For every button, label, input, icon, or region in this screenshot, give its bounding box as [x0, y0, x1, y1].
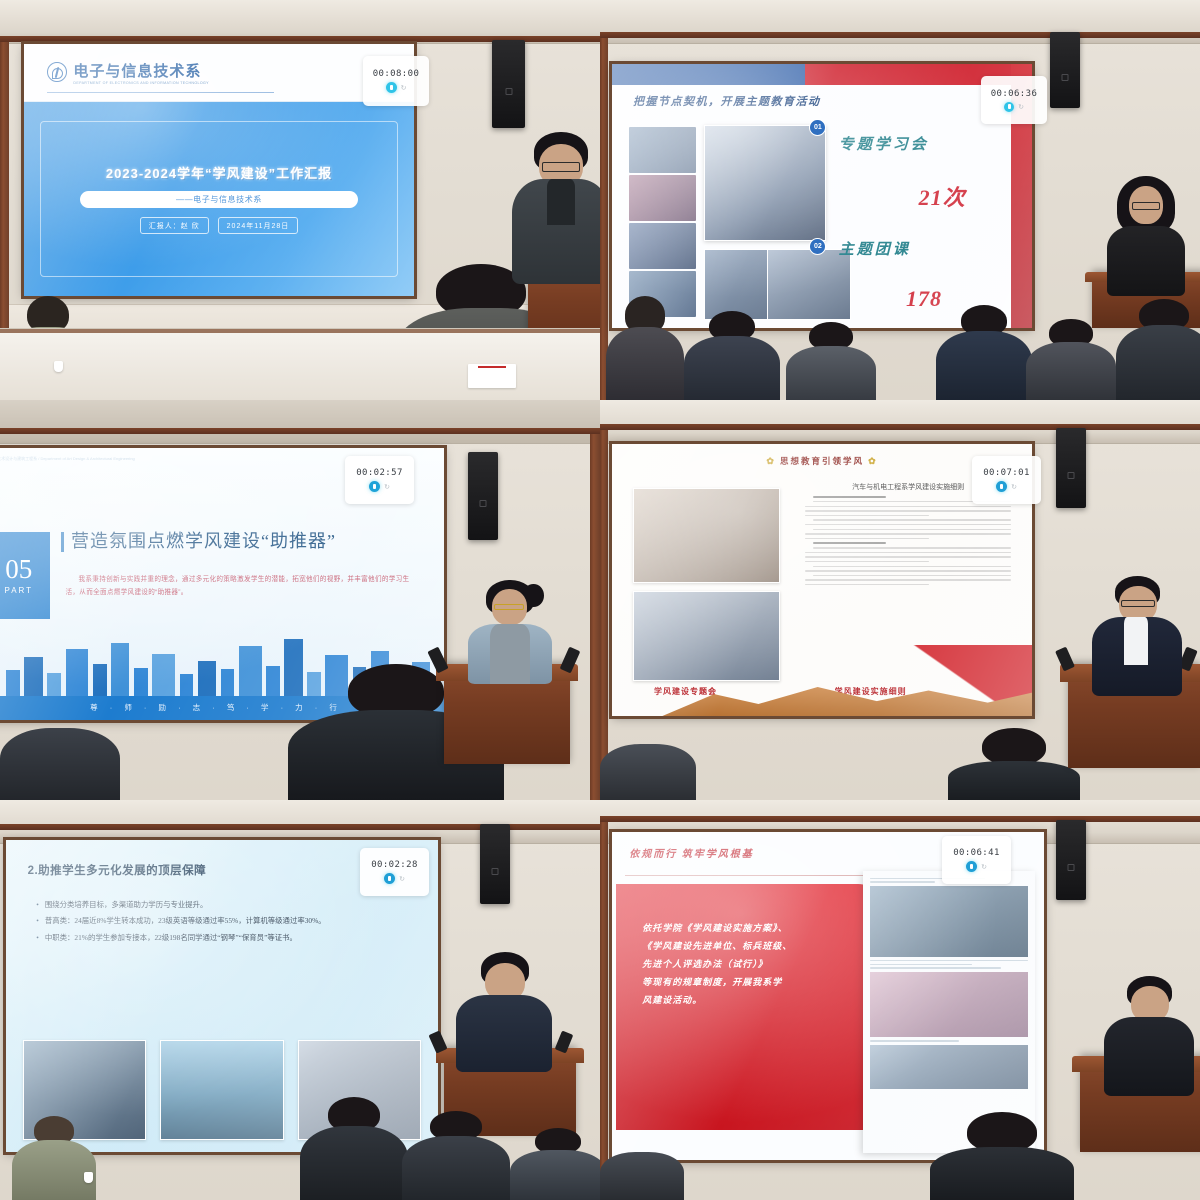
- thumbnail: [629, 127, 696, 173]
- panel-6-red-statement-slide: 依规而行 筑牢学风根基 依托学院《学风建设实施方案》、 《学风建设先进单位、标兵…: [600, 800, 1200, 1200]
- audience-member: [1026, 319, 1116, 400]
- panel-2-education-activity-slide: 把握节点契机，开展主题教育活动 01 02 专题学习会 21次 主题团课: [600, 0, 1200, 400]
- slide-title: 营造氛围点燃学风建设“助推器”: [61, 532, 336, 552]
- timer-widget-2[interactable]: 00:06:36 ↻: [981, 76, 1047, 124]
- wall-trim-top: [600, 424, 1200, 430]
- wheat-icon: ✿: [868, 456, 878, 466]
- wall-trim-top: [0, 824, 600, 830]
- doc-section-heading: [813, 496, 886, 498]
- statement-line: 依托学院《学风建设实施方案》、: [642, 919, 862, 937]
- presenter-1: [510, 132, 600, 284]
- doc-line: [870, 967, 1002, 968]
- audience-member: [948, 728, 1080, 800]
- red-statement-block: 依托学院《学风建设实施方案》、 《学风建设先进单位、标兵班级、 先进个人评选办法…: [616, 884, 884, 1130]
- reset-icon[interactable]: ↻: [1011, 483, 1017, 491]
- slide-inner-frame: 2023-2024学年“学风建设”工作汇报 ——电子与信息技术系 汇报人：赵 欣…: [40, 121, 399, 276]
- slide-meta: 汇报人：赵 欣 2024年11月28日: [140, 217, 299, 234]
- audience-member: [402, 1111, 510, 1200]
- audience-member: [606, 296, 684, 400]
- reset-icon[interactable]: ↻: [981, 863, 987, 871]
- audience-member: [936, 305, 1032, 400]
- pause-icon[interactable]: [386, 82, 397, 93]
- audience-member: [930, 1112, 1074, 1200]
- meeting-photo-1: [633, 488, 780, 583]
- list-item: • 普高类：24届近8%学生转本成功，23级英语等级通过率55%，计算机等级通过…: [36, 915, 416, 927]
- part-number: 05: [5, 556, 32, 583]
- wall-trim-right: [590, 432, 600, 800]
- main-photo-1: [704, 125, 826, 241]
- timer-value: 00:06:36: [991, 89, 1038, 99]
- slide-title: 2.助推学生多元化发展的顶层保障: [28, 862, 207, 878]
- tea-cup: [84, 1172, 93, 1183]
- audience-member: [684, 311, 780, 400]
- doc-line: [805, 570, 1011, 571]
- header-underline: [47, 92, 273, 93]
- doc-section-heading: [813, 542, 886, 544]
- timer-widget-6[interactable]: 00:06:41 ↻: [942, 836, 1011, 884]
- statement-line: 风建设活动。: [642, 991, 862, 1009]
- presenter-6: [1104, 976, 1194, 1096]
- doc-line: [805, 506, 1011, 507]
- doc-line: [870, 1040, 959, 1041]
- tea-cup: [54, 361, 63, 372]
- photo-caption-1: 学风建设专题会: [654, 686, 717, 697]
- date-chip: 2024年11月28日: [218, 217, 299, 234]
- wall-loudspeaker: [1056, 428, 1086, 508]
- timer-controls[interactable]: ↻: [966, 861, 987, 872]
- part-block: 05 PART: [0, 532, 50, 619]
- doc-line: [805, 552, 1011, 553]
- doc-line: [870, 964, 972, 965]
- audience-member: [12, 1116, 96, 1200]
- doc-line: [813, 566, 1011, 567]
- reset-icon[interactable]: ↻: [1018, 103, 1024, 111]
- doc-line: [870, 881, 936, 882]
- wall-loudspeaker: [492, 40, 525, 128]
- timer-widget-5[interactable]: 00:02:28 ↻: [360, 848, 429, 896]
- doc-line: [813, 547, 1011, 548]
- ceiling: [0, 400, 600, 444]
- timer-controls[interactable]: ↻: [384, 873, 405, 884]
- list-item-text: 围绕分类培养目标，多渠道助力学历与专业提升。: [45, 899, 208, 911]
- wall-loudspeaker: [468, 452, 498, 540]
- doc-line: [805, 556, 1011, 557]
- doc-line: [805, 584, 929, 585]
- audience-member: [510, 1128, 600, 1200]
- slide-watermark: 艺术设计与建筑工程系 / Department of Art Design & …: [0, 456, 135, 461]
- statement-line: 等现有的规章制度，开展我系学: [642, 973, 862, 991]
- ceiling: [600, 400, 1200, 444]
- timer-value: 00:02:57: [356, 468, 403, 478]
- pause-icon[interactable]: [384, 873, 395, 884]
- doc-line: [805, 510, 1011, 511]
- timer-value: 00:06:41: [953, 848, 1000, 858]
- slide-subtitle: ——电子与信息技术系: [80, 191, 358, 208]
- presenter-3: [468, 580, 552, 684]
- wall-trim-top: [600, 816, 1200, 822]
- reset-icon[interactable]: ↻: [399, 875, 405, 883]
- doc-line: [805, 579, 1011, 580]
- bullet-icon: •: [36, 932, 39, 944]
- doc-photo: [870, 972, 1029, 1038]
- pause-icon[interactable]: [966, 861, 977, 872]
- slide-header: 电子与信息技术系 DEPARTMENT OF ELECTRONICS AND I…: [24, 44, 414, 102]
- audience-member: [1116, 299, 1200, 400]
- list-item-text: 中职类：21%的学生参加专接本，22级198名同学通过“钢琴”“保育员”等证书。: [45, 932, 297, 944]
- slide-heading: 依规而行 筑牢学风根基: [629, 845, 754, 860]
- statement-line: 先进个人评选办法（试行）》: [642, 955, 862, 973]
- doc-line: [805, 561, 929, 562]
- wall-loudspeaker: [1056, 820, 1086, 900]
- doc-line: [805, 538, 929, 539]
- timer-widget-4[interactable]: 00:07:01 ↻: [972, 456, 1041, 504]
- projection-screen-1: 电子与信息技术系 DEPARTMENT OF ELECTRONICS AND I…: [24, 44, 414, 296]
- doc-line: [813, 529, 1011, 530]
- statement-line: 《学风建设先进单位、标兵班级、: [642, 937, 862, 955]
- photo-collage: 电子与信息技术系 DEPARTMENT OF ELECTRONICS AND I…: [0, 0, 1200, 1200]
- timer-widget-3[interactable]: 00:02:57 ↻: [345, 456, 414, 504]
- panel-5-bullet-slide: 2.助推学生多元化发展的顶层保障 • 围绕分类培养目标，多渠道助力学历与专业提升…: [0, 800, 600, 1200]
- wheat-icon: ✿: [766, 456, 776, 466]
- doc-photo: [870, 886, 1029, 957]
- stat-value-1: 21次: [919, 180, 966, 212]
- bullet-icon: •: [36, 915, 39, 927]
- meeting-photo-2: [633, 591, 780, 681]
- pause-icon[interactable]: [996, 481, 1007, 492]
- timer-controls[interactable]: ↻: [996, 481, 1017, 492]
- slide-title: 2023-2024学年“学风建设”工作汇报: [106, 163, 332, 182]
- banner-text: 思想教育引领学风: [780, 456, 864, 466]
- slide-paragraph: 我系秉持创新与实践并重的理念，通过多元化的策略激发学生的潜能，拓宽他们的视野，并…: [66, 573, 417, 599]
- list-item: • 围绕分类培养目标，多渠道助力学历与专业提升。: [36, 899, 416, 911]
- panel-3-section-divider-slide: 艺术设计与建筑工程系 / Department of Art Design & …: [0, 400, 600, 800]
- pause-icon[interactable]: [1004, 102, 1014, 112]
- presenter-5: [456, 952, 552, 1072]
- wall-trim-left: [600, 820, 608, 1200]
- audience-member: [786, 322, 876, 400]
- timer-controls[interactable]: ↻: [369, 481, 390, 492]
- audience-2: [600, 256, 1200, 400]
- wall-trim-top: [600, 32, 1200, 38]
- audience-member: [600, 1152, 684, 1200]
- slide-banner: ✿ 思想教育引领学风 ✿: [612, 455, 1032, 467]
- reset-icon[interactable]: ↻: [384, 483, 390, 491]
- wall-loudspeaker: [1050, 32, 1080, 108]
- pause-icon[interactable]: [369, 481, 380, 492]
- doc-line: [805, 533, 1011, 534]
- doc-line: [813, 575, 1011, 576]
- list-item-text: 普高类：24届近8%学生转本成功，23级英语等级通过率55%，计算机等级通过率3…: [45, 915, 326, 927]
- slide-heading: 把握节点契机，开展主题教育活动: [633, 93, 821, 109]
- timer-controls[interactable]: ↻: [386, 82, 407, 93]
- timer-value: 00:07:01: [983, 468, 1030, 478]
- timer-value: 00:08:00: [373, 69, 420, 79]
- ceiling: [0, 800, 600, 844]
- timer-value: 00:02:28: [371, 860, 418, 870]
- wall-trim-top: [0, 428, 600, 434]
- panel-1-title-slide: 电子与信息技术系 DEPARTMENT OF ELECTRONICS AND I…: [0, 0, 600, 400]
- nameplate: [468, 364, 516, 388]
- presenter-4: [1092, 576, 1182, 696]
- reset-icon[interactable]: ↻: [401, 84, 407, 92]
- list-item: • 中职类：21%的学生参加专接本，22级198名同学通过“钢琴”“保育员”等证…: [36, 932, 416, 944]
- audience-member: [600, 744, 696, 800]
- audience-member: [0, 728, 120, 800]
- doc-line: [870, 960, 1029, 961]
- bullet-icon: •: [36, 899, 39, 911]
- presenter-chip: 汇报人：赵 欣: [140, 217, 209, 234]
- doc-line: [805, 515, 929, 516]
- doc-photo: [870, 1045, 1029, 1089]
- doc-line: [805, 524, 1011, 525]
- slide-banner-blue: [612, 64, 814, 85]
- wall-loudspeaker: [480, 824, 510, 904]
- department-logo-icon: [47, 62, 67, 82]
- panel-4-document-slide: ✿ 思想教育引领学风 ✿ 学风建设专题会 学风建设实施细则 汽车与机电工程系学风…: [600, 400, 1200, 800]
- part-label: PART: [4, 586, 33, 595]
- bullet-list: • 围绕分类培养目标，多渠道助力学历与专业提升。 • 普高类：24届近8%学生转…: [36, 899, 416, 948]
- timer-widget-1[interactable]: 00:08:00 ↻: [363, 56, 429, 106]
- projection-screen-4: ✿ 思想教育引领学风 ✿ 学风建设专题会 学风建设实施细则 汽车与机电工程系学风…: [612, 444, 1032, 716]
- thumbnail: [629, 175, 696, 221]
- audience-member: [300, 1097, 408, 1200]
- header-title-cn: 电子与信息技术系: [73, 60, 208, 81]
- slide-body: 2023-2024学年“学风建设”工作汇报 ——电子与信息技术系 汇报人：赵 欣…: [24, 102, 414, 296]
- timer-controls[interactable]: ↻: [1004, 102, 1024, 112]
- audience-5: [0, 1080, 600, 1200]
- header-title-en: DEPARTMENT OF ELECTRONICS AND INFORMATIO…: [73, 81, 208, 85]
- stat-label-1: 专题学习会: [839, 133, 929, 154]
- doc-line: [813, 519, 1011, 520]
